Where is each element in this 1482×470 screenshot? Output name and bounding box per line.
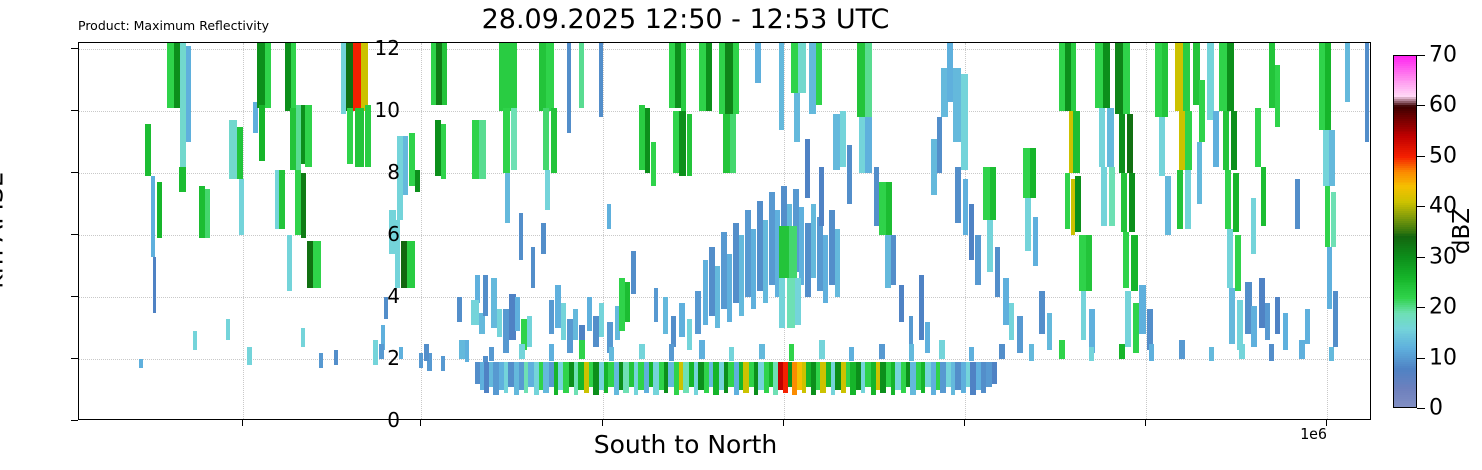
x-tick-mark bbox=[420, 420, 421, 426]
reflectivity-cell bbox=[579, 340, 585, 359]
y-tick-label: 12 bbox=[340, 36, 400, 60]
reflectivity-cell bbox=[983, 167, 990, 220]
reflectivity-cell bbox=[963, 179, 968, 235]
reflectivity-cell bbox=[1251, 198, 1256, 254]
reflectivity-cell bbox=[442, 43, 447, 105]
colorbar-tick-label: 20 bbox=[1429, 295, 1457, 320]
reflectivity-cell bbox=[1139, 285, 1146, 335]
reflectivity-cell bbox=[515, 297, 520, 331]
reflectivity-cell bbox=[865, 117, 872, 173]
reflectivity-cell bbox=[669, 344, 674, 361]
reflectivity-cell bbox=[849, 347, 854, 361]
reflectivity-cell bbox=[969, 347, 974, 361]
colorbar-tick-mark bbox=[1417, 105, 1425, 106]
reflectivity-cell bbox=[939, 340, 945, 359]
reflectivity-cell bbox=[167, 43, 174, 108]
reflectivity-cell bbox=[919, 275, 924, 340]
reflectivity-cell bbox=[1127, 114, 1133, 173]
reflectivity-cell bbox=[457, 297, 462, 322]
reflectivity-cell bbox=[819, 167, 824, 226]
reflectivity-cell bbox=[679, 111, 686, 176]
reflectivity-cell bbox=[1231, 111, 1237, 170]
reflectivity-cell bbox=[1229, 288, 1235, 344]
reflectivity-cell bbox=[1119, 114, 1125, 173]
reflectivity-cell bbox=[1219, 43, 1227, 111]
reflectivity-cell bbox=[679, 303, 685, 337]
reflectivity-cell bbox=[291, 43, 296, 111]
reflectivity-cell bbox=[1185, 170, 1191, 229]
colorbar-tick-mark bbox=[1417, 408, 1425, 409]
reflectivity-cell bbox=[489, 347, 494, 361]
reflectivity-cell bbox=[687, 319, 692, 350]
y-tick-label: 8 bbox=[340, 160, 400, 184]
reflectivity-cell bbox=[937, 117, 942, 173]
reflectivity-cell bbox=[733, 43, 739, 114]
reflectivity-cell bbox=[909, 344, 914, 361]
reflectivity-cell bbox=[1207, 43, 1214, 120]
reflectivity-cell bbox=[539, 43, 546, 111]
reflectivity-cell bbox=[759, 344, 765, 359]
colorbar bbox=[1393, 55, 1417, 408]
reflectivity-cell bbox=[1331, 192, 1336, 248]
reflectivity-cell bbox=[1239, 344, 1245, 359]
reflectivity-cell bbox=[145, 124, 151, 177]
reflectivity-cell bbox=[651, 142, 656, 185]
reflectivity-cell bbox=[847, 145, 852, 204]
x-tick-mark bbox=[1326, 420, 1327, 426]
reflectivity-cell bbox=[779, 226, 789, 279]
reflectivity-cell bbox=[1325, 43, 1331, 130]
reflectivity-cell bbox=[459, 340, 465, 359]
reflectivity-cell bbox=[247, 347, 252, 366]
reflectivity-cell bbox=[567, 43, 571, 133]
y-tick-mark bbox=[71, 234, 78, 235]
reflectivity-cell bbox=[1223, 111, 1229, 170]
reflectivity-cell bbox=[549, 344, 554, 361]
reflectivity-cell bbox=[1081, 291, 1086, 341]
reflectivity-cell bbox=[625, 282, 630, 322]
reflectivity-cell bbox=[865, 43, 872, 117]
colorbar-tick-label: 0 bbox=[1429, 396, 1443, 421]
reflectivity-cell bbox=[886, 182, 892, 235]
reflectivity-cell bbox=[891, 235, 896, 285]
reflectivity-cell bbox=[472, 120, 479, 179]
reflectivity-cell bbox=[1325, 186, 1330, 248]
reflectivity-cell bbox=[1185, 111, 1192, 170]
reflectivity-cell bbox=[795, 278, 801, 324]
reflectivity-cell bbox=[511, 108, 517, 170]
reflectivity-cell bbox=[995, 247, 1000, 297]
reflectivity-cell bbox=[1227, 229, 1233, 288]
reflectivity-cell bbox=[879, 182, 886, 235]
reflectivity-cell bbox=[987, 220, 993, 273]
reflectivity-cell bbox=[424, 344, 429, 361]
reflectivity-cell bbox=[503, 108, 510, 173]
reflectivity-cell bbox=[1119, 344, 1125, 359]
reflectivity-cell bbox=[579, 43, 584, 108]
reflectivity-cell bbox=[599, 303, 604, 337]
reflectivity-cell bbox=[151, 176, 155, 257]
reflectivity-cell bbox=[833, 114, 840, 170]
reflectivity-cell bbox=[1199, 80, 1205, 142]
reflectivity-cell bbox=[226, 319, 230, 341]
reflectivity-cell bbox=[809, 43, 816, 114]
reflectivity-cell bbox=[1039, 291, 1045, 334]
reflectivity-cell bbox=[1079, 235, 1086, 291]
reflectivity-cell bbox=[953, 68, 961, 142]
reflectivity-cell bbox=[1327, 247, 1332, 309]
reflectivity-cell bbox=[1109, 167, 1115, 226]
reflectivity-cell bbox=[1329, 347, 1334, 361]
reflectivity-cell bbox=[1107, 108, 1114, 167]
x-tick-mark bbox=[602, 420, 603, 426]
reflectivity-cell bbox=[1183, 43, 1190, 111]
reflectivity-cell bbox=[1075, 176, 1081, 232]
y-tick-label: 6 bbox=[340, 222, 400, 246]
reflectivity-cell bbox=[205, 189, 210, 239]
reflectivity-cell bbox=[599, 43, 603, 117]
reflectivity-cell bbox=[465, 340, 469, 362]
y-tick-label: 4 bbox=[340, 284, 400, 308]
reflectivity-cell bbox=[1029, 344, 1034, 361]
reflectivity-cell bbox=[1255, 108, 1261, 167]
reflectivity-cell bbox=[1017, 316, 1023, 353]
reflectivity-cell bbox=[229, 120, 237, 179]
reflectivity-cell bbox=[992, 362, 997, 384]
reflectivity-cell bbox=[727, 254, 732, 322]
reflectivity-cell bbox=[706, 43, 712, 111]
y-axis-label: km AMSL bbox=[0, 173, 9, 288]
reflectivity-cell bbox=[654, 288, 658, 322]
reflectivity-cell bbox=[1025, 198, 1031, 251]
reflectivity-cell bbox=[441, 124, 446, 180]
reflectivity-cell bbox=[791, 43, 798, 93]
reflectivity-cell bbox=[543, 108, 549, 170]
reflectivity-cell bbox=[840, 111, 846, 167]
reflectivity-cell bbox=[715, 266, 720, 328]
reflectivity-cell bbox=[823, 235, 828, 303]
reflectivity-cell bbox=[1159, 117, 1165, 176]
colorbar-tick-label: 10 bbox=[1429, 345, 1457, 370]
reflectivity-cell bbox=[305, 105, 312, 167]
reflectivity-cell bbox=[157, 182, 162, 238]
y-tick-mark bbox=[71, 110, 78, 111]
reflectivity-cell bbox=[631, 251, 636, 294]
y-tick-mark bbox=[71, 48, 78, 49]
reflectivity-cell bbox=[999, 344, 1005, 359]
y-tick-label: 2 bbox=[340, 346, 400, 370]
reflectivity-cell bbox=[499, 43, 517, 111]
reflectivity-cell bbox=[1365, 43, 1369, 142]
reflectivity-cell bbox=[1033, 217, 1038, 267]
colorbar-tick-mark bbox=[1417, 55, 1425, 56]
reflectivity-cells bbox=[79, 43, 1370, 419]
reflectivity-cell bbox=[681, 43, 686, 111]
reflectivity-cell bbox=[1123, 43, 1130, 114]
reflectivity-cell bbox=[739, 235, 744, 316]
reflectivity-cell bbox=[1103, 43, 1110, 108]
reflectivity-cell bbox=[301, 173, 306, 238]
reflectivity-cell bbox=[475, 275, 480, 303]
reflectivity-cell bbox=[334, 350, 338, 365]
reflectivity-cell bbox=[1233, 173, 1239, 232]
y-tick-mark bbox=[71, 420, 78, 421]
reflectivity-cell bbox=[1059, 340, 1065, 359]
reflectivity-cell bbox=[479, 313, 485, 335]
reflectivity-cell bbox=[1175, 43, 1183, 111]
reflectivity-cell bbox=[549, 300, 554, 334]
reflectivity-cell bbox=[301, 328, 305, 347]
reflectivity-cell bbox=[1179, 340, 1185, 359]
reflectivity-cell bbox=[1235, 235, 1241, 291]
reflectivity-cell bbox=[287, 235, 292, 291]
reflectivity-cell bbox=[699, 43, 706, 111]
y-tick-mark bbox=[71, 358, 78, 359]
reflectivity-cell bbox=[1101, 167, 1107, 226]
reflectivity-cell bbox=[1115, 43, 1123, 114]
reflectivity-cell bbox=[561, 303, 566, 340]
reflectivity-cell bbox=[186, 46, 191, 142]
reflectivity-cell bbox=[925, 322, 930, 353]
x-tick-mark bbox=[964, 420, 965, 426]
reflectivity-cell bbox=[1251, 306, 1257, 346]
reflectivity-cell bbox=[259, 105, 265, 161]
reflectivity-cell bbox=[1009, 303, 1014, 340]
reflectivity-cell bbox=[519, 213, 523, 259]
reflectivity-cell bbox=[1123, 232, 1129, 288]
colorbar-tick-label: 70 bbox=[1429, 43, 1457, 68]
reflectivity-cell bbox=[415, 170, 420, 192]
reflectivity-cell bbox=[441, 356, 445, 371]
colorbar-tick-mark bbox=[1417, 156, 1425, 157]
reflectivity-cell bbox=[587, 297, 592, 331]
reflectivity-cell bbox=[695, 291, 701, 334]
reflectivity-cell bbox=[505, 173, 510, 223]
reflectivity-cell bbox=[1261, 167, 1266, 226]
reflectivity-cell bbox=[527, 316, 532, 347]
reflectivity-cell bbox=[811, 204, 816, 278]
colorbar-tick-label: 60 bbox=[1429, 93, 1457, 118]
reflectivity-cell bbox=[265, 43, 271, 108]
reflectivity-cell bbox=[139, 359, 143, 368]
colorbar-tick-mark bbox=[1417, 257, 1425, 258]
reflectivity-cell bbox=[1305, 309, 1310, 343]
reflectivity-cell bbox=[546, 43, 554, 111]
x-tick-mark bbox=[1145, 420, 1146, 426]
reflectivity-cell bbox=[899, 285, 904, 322]
reflectivity-cell bbox=[1295, 179, 1300, 229]
reflectivity-cell bbox=[519, 344, 525, 359]
reflectivity-cell bbox=[1131, 235, 1138, 291]
reflectivity-cell bbox=[257, 43, 265, 108]
reflectivity-cell bbox=[730, 114, 736, 173]
reflectivity-cell bbox=[313, 241, 321, 287]
reflectivity-cell bbox=[703, 260, 708, 325]
reflectivity-cell bbox=[725, 43, 733, 114]
reflectivity-cell bbox=[1162, 43, 1168, 117]
reflectivity-cell bbox=[319, 353, 323, 368]
reflectivity-cell bbox=[1283, 313, 1288, 350]
reflectivity-cell bbox=[1095, 43, 1103, 108]
y-tick-label: 0 bbox=[340, 408, 400, 432]
reflectivity-cell bbox=[1099, 108, 1105, 167]
reflectivity-cell bbox=[1345, 43, 1350, 102]
reflectivity-cell bbox=[779, 43, 784, 130]
reflectivity-cell bbox=[763, 220, 768, 304]
reflectivity-cell bbox=[819, 340, 825, 359]
reflectivity-cell bbox=[794, 93, 800, 143]
reflectivity-cell bbox=[1333, 291, 1338, 347]
reflectivity-cell bbox=[787, 278, 795, 328]
reflectivity-cell bbox=[153, 257, 156, 313]
reflectivity-cell bbox=[1149, 344, 1154, 361]
colorbar-tick-label: 40 bbox=[1429, 194, 1457, 219]
reflectivity-cell bbox=[193, 331, 197, 350]
reflectivity-cell bbox=[407, 241, 415, 287]
x-tick-mark bbox=[242, 420, 243, 426]
reflectivity-cell bbox=[531, 247, 535, 287]
product-label: Product: Maximum Reflectivity bbox=[78, 18, 269, 33]
reflectivity-cell bbox=[403, 136, 408, 195]
reflectivity-cell bbox=[755, 43, 761, 83]
reflectivity-cell bbox=[1213, 111, 1219, 167]
reflectivity-cell bbox=[1073, 111, 1080, 173]
reflectivity-cell bbox=[975, 235, 981, 285]
reflectivity-cell bbox=[1071, 43, 1076, 111]
colorbar-gradient bbox=[1393, 55, 1417, 408]
reflectivity-cell bbox=[1165, 176, 1171, 235]
y-tick-mark bbox=[71, 172, 78, 173]
reflectivity-cell bbox=[1129, 173, 1135, 232]
reflectivity-cell bbox=[471, 300, 479, 325]
colorbar-tick-label: 50 bbox=[1429, 143, 1457, 168]
reflectivity-cell bbox=[1227, 43, 1234, 111]
reflectivity-cell bbox=[1299, 340, 1305, 359]
reflectivity-cell bbox=[835, 229, 840, 297]
reflectivity-cell bbox=[1329, 130, 1335, 186]
reflectivity-cell bbox=[1177, 170, 1183, 229]
reflectivity-cell bbox=[279, 170, 285, 229]
reflectivity-cell bbox=[1023, 148, 1030, 198]
reflectivity-cell bbox=[779, 278, 785, 328]
reflectivity-cell bbox=[545, 170, 550, 210]
colorbar-tick-mark bbox=[1417, 206, 1425, 207]
reflectivity-cell bbox=[789, 226, 797, 279]
colorbar-band bbox=[1394, 407, 1416, 408]
reflectivity-cell bbox=[1030, 148, 1036, 198]
reflectivity-cell bbox=[799, 207, 804, 284]
reflectivity-cell bbox=[179, 167, 186, 192]
colorbar-tick-mark bbox=[1417, 358, 1425, 359]
reflectivity-cell bbox=[237, 127, 243, 180]
reflectivity-cell bbox=[857, 43, 865, 117]
reflectivity-cell bbox=[805, 139, 810, 198]
reflectivity-cell bbox=[687, 114, 692, 176]
reflectivity-cell bbox=[798, 43, 806, 93]
reflectivity-cell bbox=[607, 204, 611, 229]
reflectivity-cell bbox=[1275, 65, 1280, 127]
reflectivity-cell bbox=[789, 344, 794, 361]
reflectivity-cell bbox=[1121, 173, 1127, 232]
reflectivity-cell bbox=[990, 167, 996, 220]
reflectivity-cell bbox=[1225, 170, 1231, 229]
reflectivity-cell bbox=[1237, 300, 1243, 350]
reflectivity-cell bbox=[479, 120, 486, 179]
reflectivity-cell bbox=[816, 43, 822, 105]
x-axis-label: South to North bbox=[0, 430, 1371, 459]
reflectivity-cell bbox=[1269, 344, 1274, 361]
reflectivity-cell bbox=[645, 108, 650, 173]
reflectivity-cell bbox=[1209, 347, 1214, 361]
reflectivity-cell bbox=[1125, 291, 1131, 347]
reflectivity-cell bbox=[961, 74, 968, 170]
reflectivity-cell bbox=[1265, 303, 1270, 340]
reflectivity-cell bbox=[1089, 347, 1094, 361]
reflectivity-cell bbox=[1065, 173, 1070, 229]
reflectivity-cell bbox=[1275, 297, 1280, 334]
x-axis-offset-label: 1e6 bbox=[1300, 425, 1327, 443]
reflectivity-cell bbox=[1047, 313, 1052, 350]
reflectivity-cell bbox=[639, 344, 645, 359]
reflectivity-cell bbox=[969, 204, 974, 260]
reflectivity-cell bbox=[541, 223, 546, 254]
reflectivity-cell bbox=[551, 108, 557, 173]
reflectivity-cell bbox=[671, 316, 676, 347]
radar-cross-section-figure: 28.09.2025 12:50 - 12:53 UTC Product: Ma… bbox=[0, 0, 1482, 470]
colorbar-tick-mark bbox=[1417, 307, 1425, 308]
reflectivity-cell bbox=[497, 309, 502, 337]
reflectivity-cell bbox=[609, 347, 614, 361]
plot-area bbox=[78, 42, 1371, 420]
reflectivity-cell bbox=[699, 340, 705, 359]
reflectivity-cell bbox=[419, 353, 423, 368]
y-tick-mark bbox=[71, 296, 78, 297]
reflectivity-cell bbox=[483, 275, 488, 315]
reflectivity-cell bbox=[239, 179, 244, 235]
reflectivity-cell bbox=[723, 114, 730, 173]
reflectivity-cell bbox=[751, 229, 756, 310]
x-tick-mark bbox=[783, 420, 784, 426]
colorbar-tick-label: 30 bbox=[1429, 244, 1457, 269]
reflectivity-cell bbox=[1155, 43, 1162, 117]
reflectivity-cell bbox=[955, 167, 961, 223]
reflectivity-cell bbox=[1086, 235, 1092, 291]
reflectivity-cell bbox=[1197, 142, 1202, 204]
reflectivity-cell bbox=[729, 347, 734, 361]
reflectivity-cell bbox=[573, 309, 578, 340]
reflectivity-cell bbox=[663, 297, 668, 334]
reflectivity-cell bbox=[879, 344, 885, 359]
y-tick-label: 10 bbox=[340, 98, 400, 122]
